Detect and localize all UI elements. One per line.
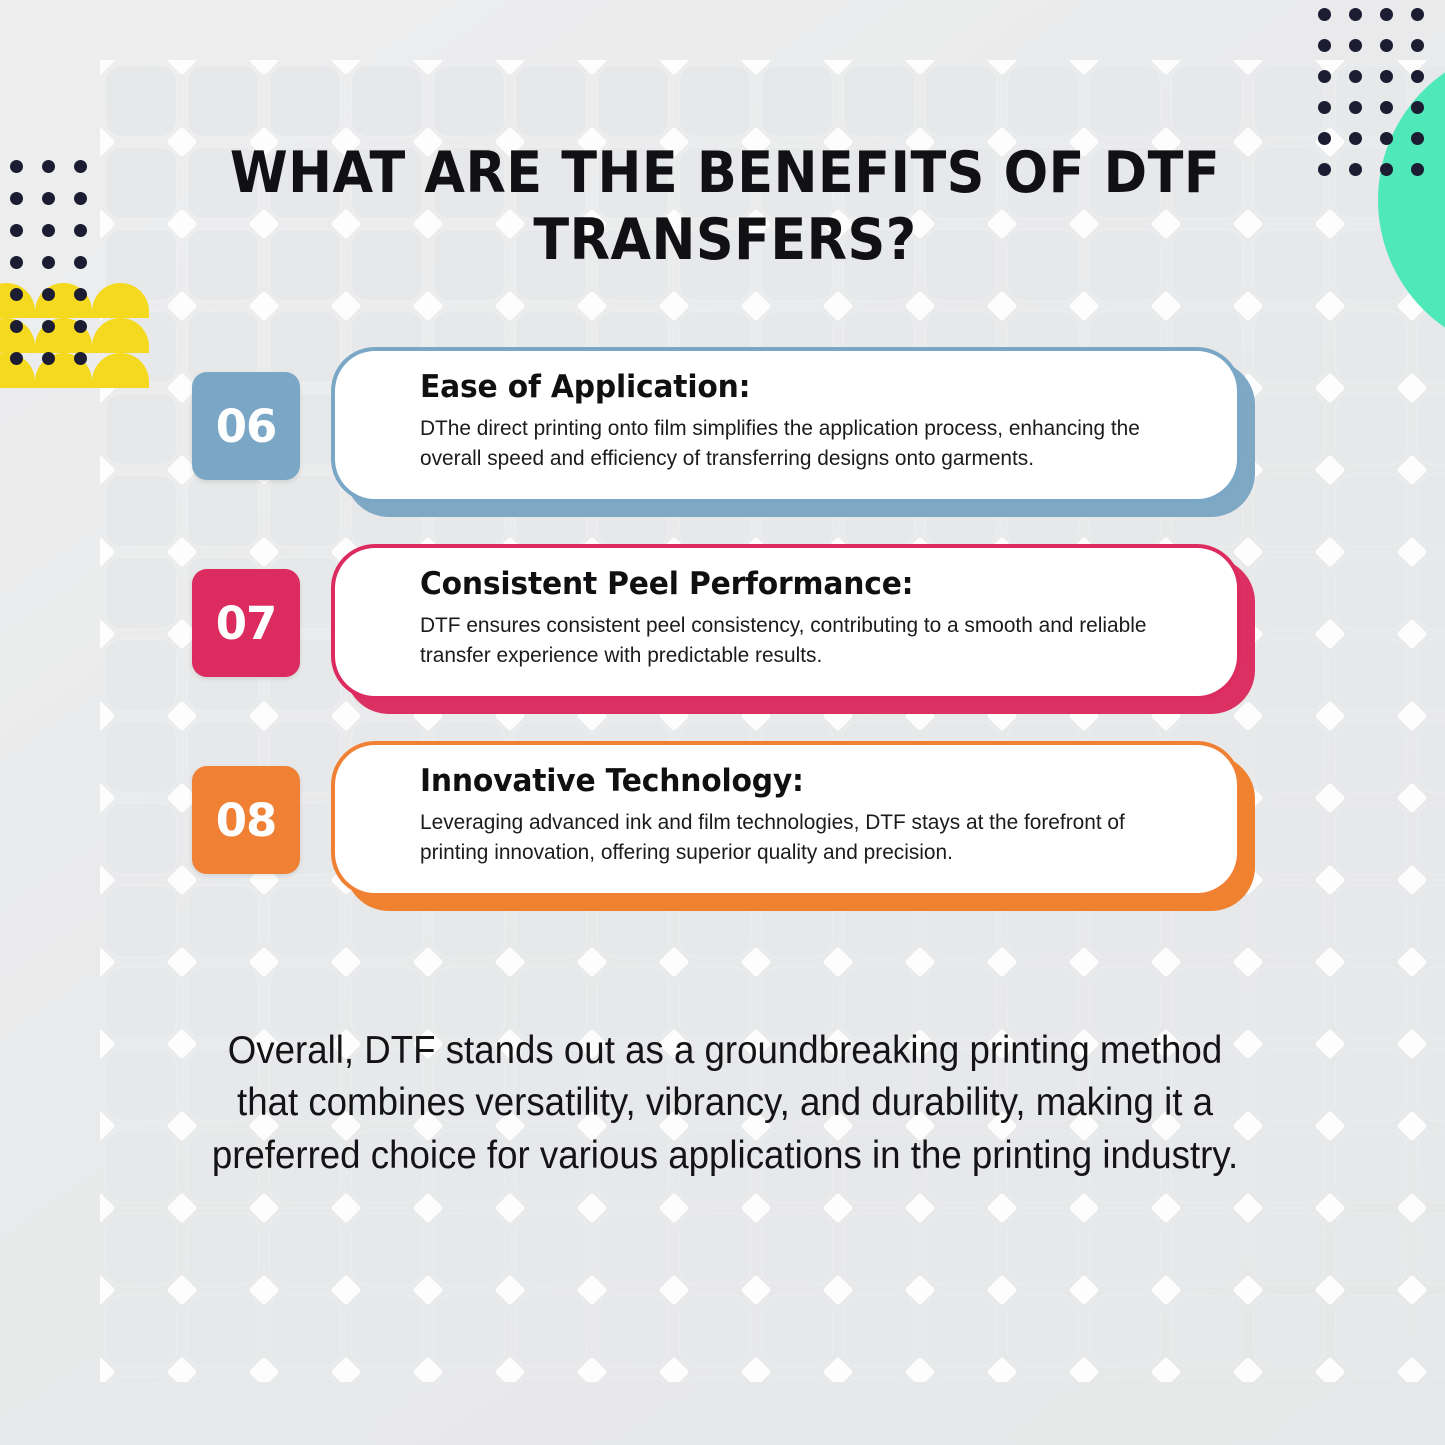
benefit-item-07: 07 Consistent Peel Performance: DTF ensu…	[0, 542, 1445, 717]
benefit-card-08: Innovative Technology: Leveraging advanc…	[331, 741, 1241, 897]
benefit-title-07: Consistent Peel Performance:	[420, 566, 1166, 602]
summary-paragraph: Overall, DTF stands out as a groundbreak…	[208, 1025, 1242, 1182]
badge-number-07: 07	[192, 569, 300, 677]
benefit-text-08: Leveraging advanced ink and film technol…	[420, 808, 1174, 867]
badge-label: 06	[216, 400, 277, 453]
benefit-title-08: Innovative Technology:	[420, 763, 1166, 799]
badge-label: 08	[216, 794, 277, 847]
benefit-title-06: Ease of Application:	[420, 369, 1166, 405]
benefit-card-07: Consistent Peel Performance: DTF ensures…	[331, 544, 1241, 700]
benefit-text-07: DTF ensures consistent peel consistency,…	[420, 611, 1174, 670]
benefit-item-06: 06 Ease of Application: DThe direct prin…	[0, 345, 1445, 520]
badge-number-06: 06	[192, 372, 300, 480]
badge-label: 07	[216, 597, 277, 650]
page-title: WHAT ARE THE BENEFITS OF DTF TRANSFERS?	[196, 140, 1254, 275]
badge-number-08: 08	[192, 766, 300, 874]
benefit-item-08: 08 Innovative Technology: Leveraging adv…	[0, 739, 1445, 914]
benefit-text-06: DThe direct printing onto film simplifie…	[420, 414, 1174, 473]
benefit-card-06: Ease of Application: DThe direct printin…	[331, 347, 1241, 503]
